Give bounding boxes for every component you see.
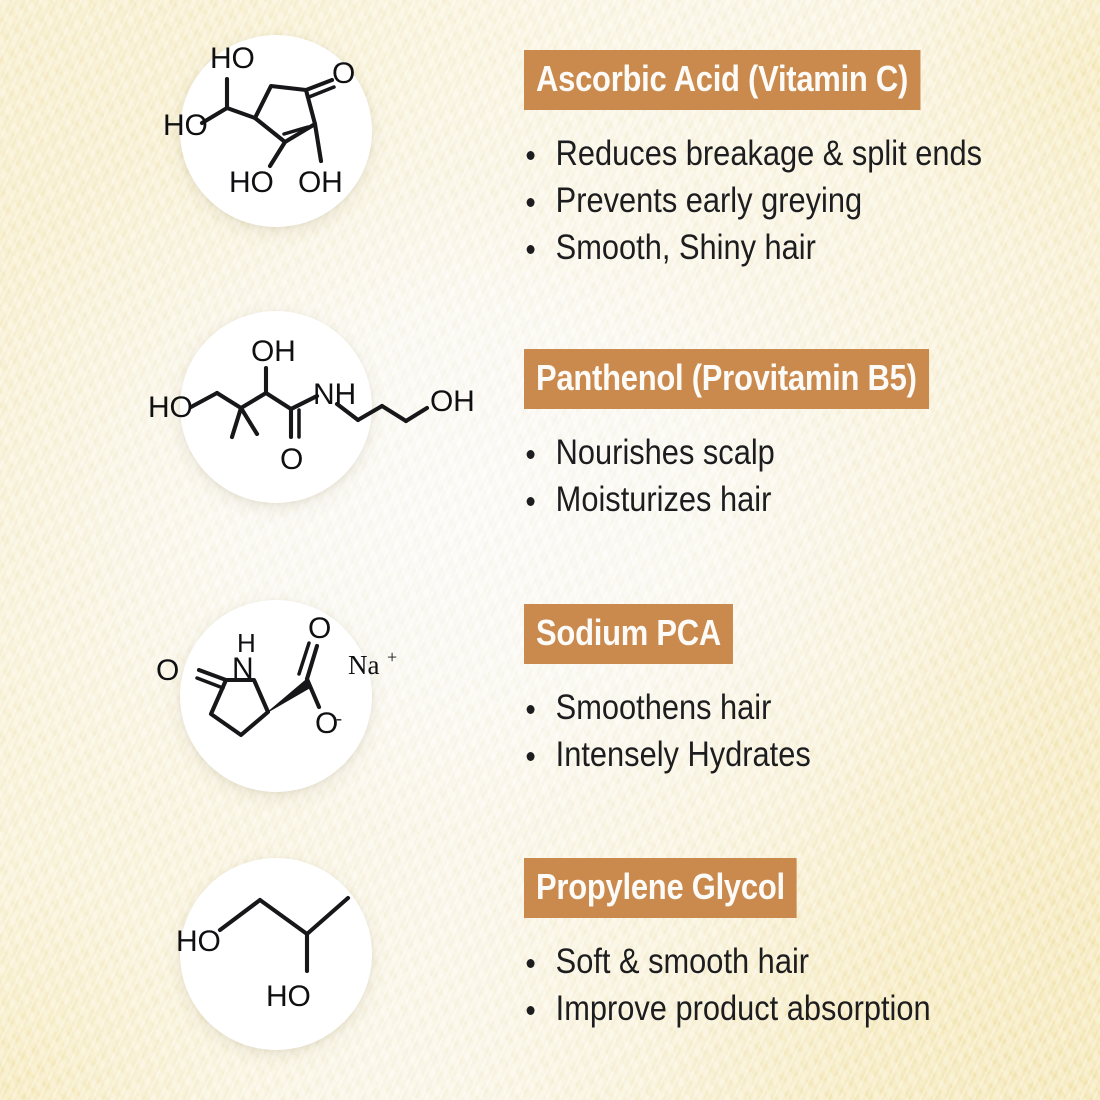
atom-label-o-anion: O — [315, 707, 338, 740]
sodium-pca-text-block: Sodium PCA Smoothens hair Intensely Hydr… — [524, 604, 850, 780]
charge-label-minus: - — [336, 708, 342, 728]
bullet-list-sodium-pca: Smoothens hair Intensely Hydrates — [524, 686, 850, 777]
panthenol-text-block: Panthenol (Provitamin B5) Nourishes scal… — [524, 349, 995, 525]
ascorbic-acid-molecule: HO HO O HO OH — [180, 35, 372, 227]
infographic-page: HO HO O HO OH Ascorbic Acid (Vitamin C) … — [0, 0, 1100, 1100]
bullet-item: Moisturizes hair — [524, 478, 938, 522]
atom-label-na: Na — [348, 650, 379, 680]
propylene-glycol-molecule: HO HO — [180, 858, 372, 1050]
bullet-item: Smooth, Shiny hair — [524, 226, 982, 270]
bullet-item: Intensely Hydrates — [524, 733, 811, 777]
atom-label-ho-upper: HO — [210, 42, 255, 75]
atom-label-ho-left: HO — [163, 109, 208, 142]
bullet-item: Soft & smooth hair — [524, 940, 931, 984]
bullet-list-panthenol: Nourishes scalp Moisturizes hair — [524, 431, 995, 522]
bullet-item: Prevents early greying — [524, 179, 982, 223]
ascorbic-acid-text-block: Ascorbic Acid (Vitamin C) Reduces breaka… — [524, 50, 1044, 273]
bullet-item: Reduces breakage & split ends — [524, 132, 982, 176]
bullet-item: Smoothens hair — [524, 686, 811, 730]
atom-label-ho-left: HO — [176, 925, 221, 958]
propylene-glycol-text-block: Propylene Glycol Soft & smooth hair Impr… — [524, 858, 986, 1034]
atom-label-ho-left: HO — [148, 391, 193, 424]
atom-label-oh-right: OH — [430, 385, 475, 418]
atom-label-ho-center: HO — [266, 980, 311, 1013]
bullet-item: Nourishes scalp — [524, 431, 938, 475]
bullet-list-propylene-glycol: Soft & smooth hair Improve product absor… — [524, 940, 986, 1031]
atom-label-o-carbonyl: O — [280, 443, 303, 476]
heading-panthenol: Panthenol (Provitamin B5) — [524, 349, 929, 409]
heading-ascorbic-acid: Ascorbic Acid (Vitamin C) — [524, 50, 920, 110]
atom-label-o-lactam: O — [156, 654, 179, 687]
atom-label-ho-bottom: HO — [229, 166, 274, 199]
atom-label-o-carbonyl: O — [308, 612, 331, 645]
bullet-list-ascorbic-acid: Reduces breakage & split ends Prevents e… — [524, 132, 1044, 270]
atom-label-o-carbonyl: O — [332, 57, 355, 90]
panthenol-molecule: HO OH NH O OH — [180, 311, 372, 503]
atom-label-oh-bottom: OH — [298, 166, 343, 199]
heading-propylene-glycol: Propylene Glycol — [524, 858, 797, 918]
charge-label-plus: + — [387, 647, 397, 667]
atom-label-oh-alpha: OH — [251, 335, 296, 368]
heading-sodium-pca: Sodium PCA — [524, 604, 733, 664]
atom-label-n-amine: N — [232, 652, 253, 685]
bullet-item: Improve product absorption — [524, 987, 931, 1031]
atom-label-nh: NH — [313, 378, 356, 411]
sodium-pca-molecule: O H N O O - Na + — [180, 600, 372, 792]
